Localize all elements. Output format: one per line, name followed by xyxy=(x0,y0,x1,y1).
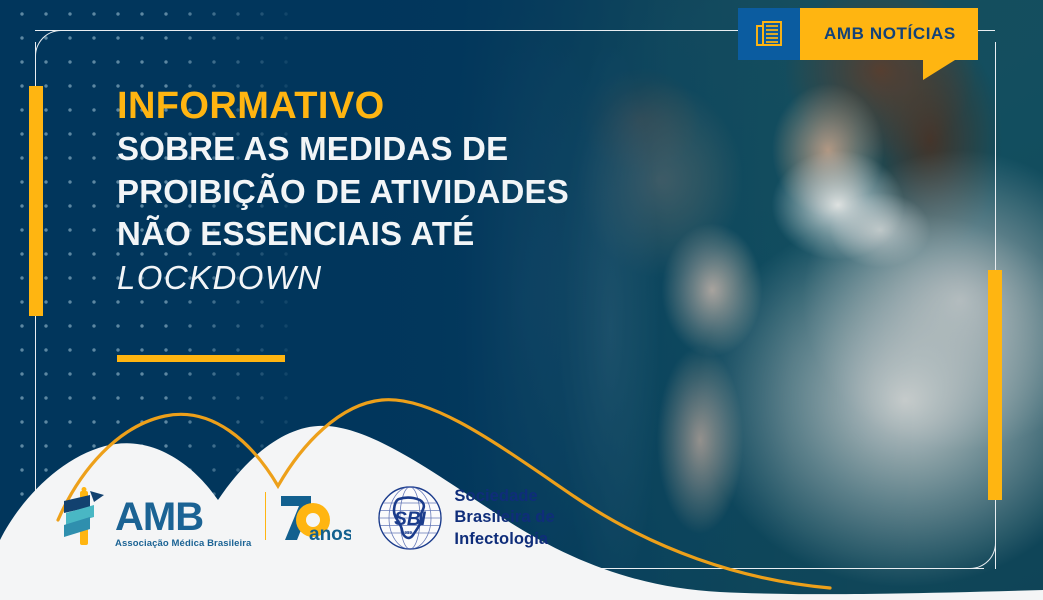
amb-acronym: AMB xyxy=(115,499,251,536)
bottom-mountain-shape xyxy=(0,350,1043,600)
headline-kicker: INFORMATIVO xyxy=(117,86,677,126)
svg-text:1989: 1989 xyxy=(402,530,413,535)
amb-news-banner: INFORMATIVO SOBRE AS MEDIDAS DE PROIBIÇÃ… xyxy=(0,0,1043,600)
logo-row: AMB Associação Médica Brasileira anos xyxy=(60,485,555,551)
sbi-line-2: Brasileira de xyxy=(454,507,554,528)
badge-tail xyxy=(923,60,955,80)
accent-bar-left xyxy=(29,86,43,316)
headline-line-3: NÃO ESSENCIAIS ATÉ xyxy=(117,213,677,255)
newspaper-icon xyxy=(738,8,800,60)
badge-label: AMB NOTÍCIAS xyxy=(800,8,978,60)
headline-line-2: PROIBIÇÃO DE ATIVIDADES xyxy=(117,171,677,213)
sbi-line-3: Infectologia xyxy=(454,529,554,550)
amb-caduceus-icon xyxy=(60,487,108,549)
headline-line-1: SOBRE AS MEDIDAS DE xyxy=(117,128,677,170)
sbi-wordmark: Sociedade Brasileira de Infectologia xyxy=(454,486,554,549)
headline-emphasis: LOCKDOWN xyxy=(117,257,677,300)
amb-70-anos-mark: anos xyxy=(279,492,351,542)
svg-text:anos: anos xyxy=(309,524,351,544)
amb-wordmark: AMB Associação Médica Brasileira xyxy=(115,499,251,549)
amb-noticias-badge[interactable]: AMB NOTÍCIAS xyxy=(738,8,978,60)
logo-divider xyxy=(265,492,266,540)
sbi-line-1: Sociedade xyxy=(454,486,554,507)
sbi-globe-icon: SBI 1989 xyxy=(377,485,443,551)
sbi-logo: SBI 1989 Sociedade Brasileira de Infecto… xyxy=(377,485,554,551)
amb-subtitle: Associação Médica Brasileira xyxy=(115,538,251,549)
headline-block: INFORMATIVO SOBRE AS MEDIDAS DE PROIBIÇÃ… xyxy=(117,86,677,300)
svg-text:SBI: SBI xyxy=(395,509,427,530)
amb-logo: AMB Associação Médica Brasileira xyxy=(60,487,251,549)
